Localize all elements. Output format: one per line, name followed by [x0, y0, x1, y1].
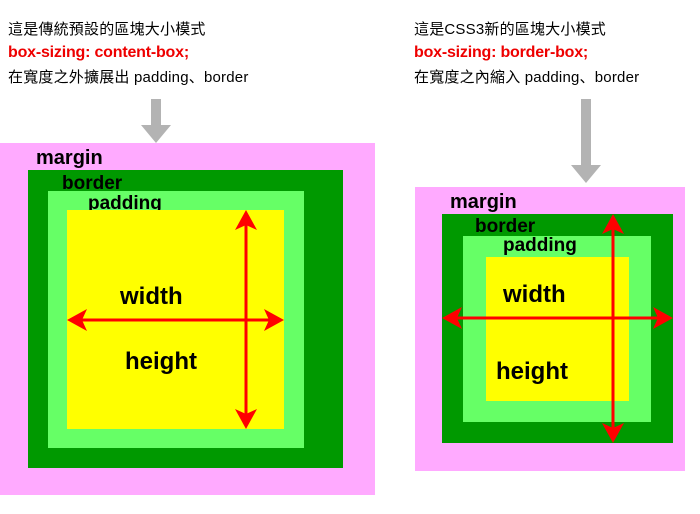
right-margin-label: margin: [450, 191, 517, 214]
left-height-label: height: [125, 348, 197, 376]
left-caption-block: 這是傳統預設的區塊大小模式 box-sizing: content-box; 在…: [8, 18, 249, 89]
right-box-model-diagram: margin border padding width height: [415, 187, 685, 471]
left-caption-line-1: 這是傳統預設的區塊大小模式: [8, 18, 249, 41]
left-down-arrow-icon: [140, 99, 172, 144]
left-margin-label: margin: [36, 147, 103, 170]
left-width-label: width: [120, 283, 183, 311]
left-caption-code: box-sizing: content-box;: [8, 41, 249, 66]
right-caption-line-1: 這是CSS3新的區塊大小模式: [414, 18, 639, 41]
right-down-arrow-icon: [570, 99, 602, 184]
right-height-label: height: [496, 358, 568, 386]
left-box-model-diagram: margin border padding width height: [0, 143, 375, 495]
right-height-arrow-icon: [600, 214, 626, 443]
left-height-arrow-icon: [233, 210, 259, 429]
right-padding-label: padding: [503, 235, 577, 257]
right-caption-code: box-sizing: border-box;: [414, 41, 639, 66]
left-caption-line-3: 在寬度之外擴展出 padding、border: [8, 66, 249, 89]
right-caption-block: 這是CSS3新的區塊大小模式 box-sizing: border-box; 在…: [414, 18, 639, 89]
right-caption-line-3: 在寬度之內縮入 padding、border: [414, 66, 639, 89]
right-width-label: width: [503, 281, 566, 309]
